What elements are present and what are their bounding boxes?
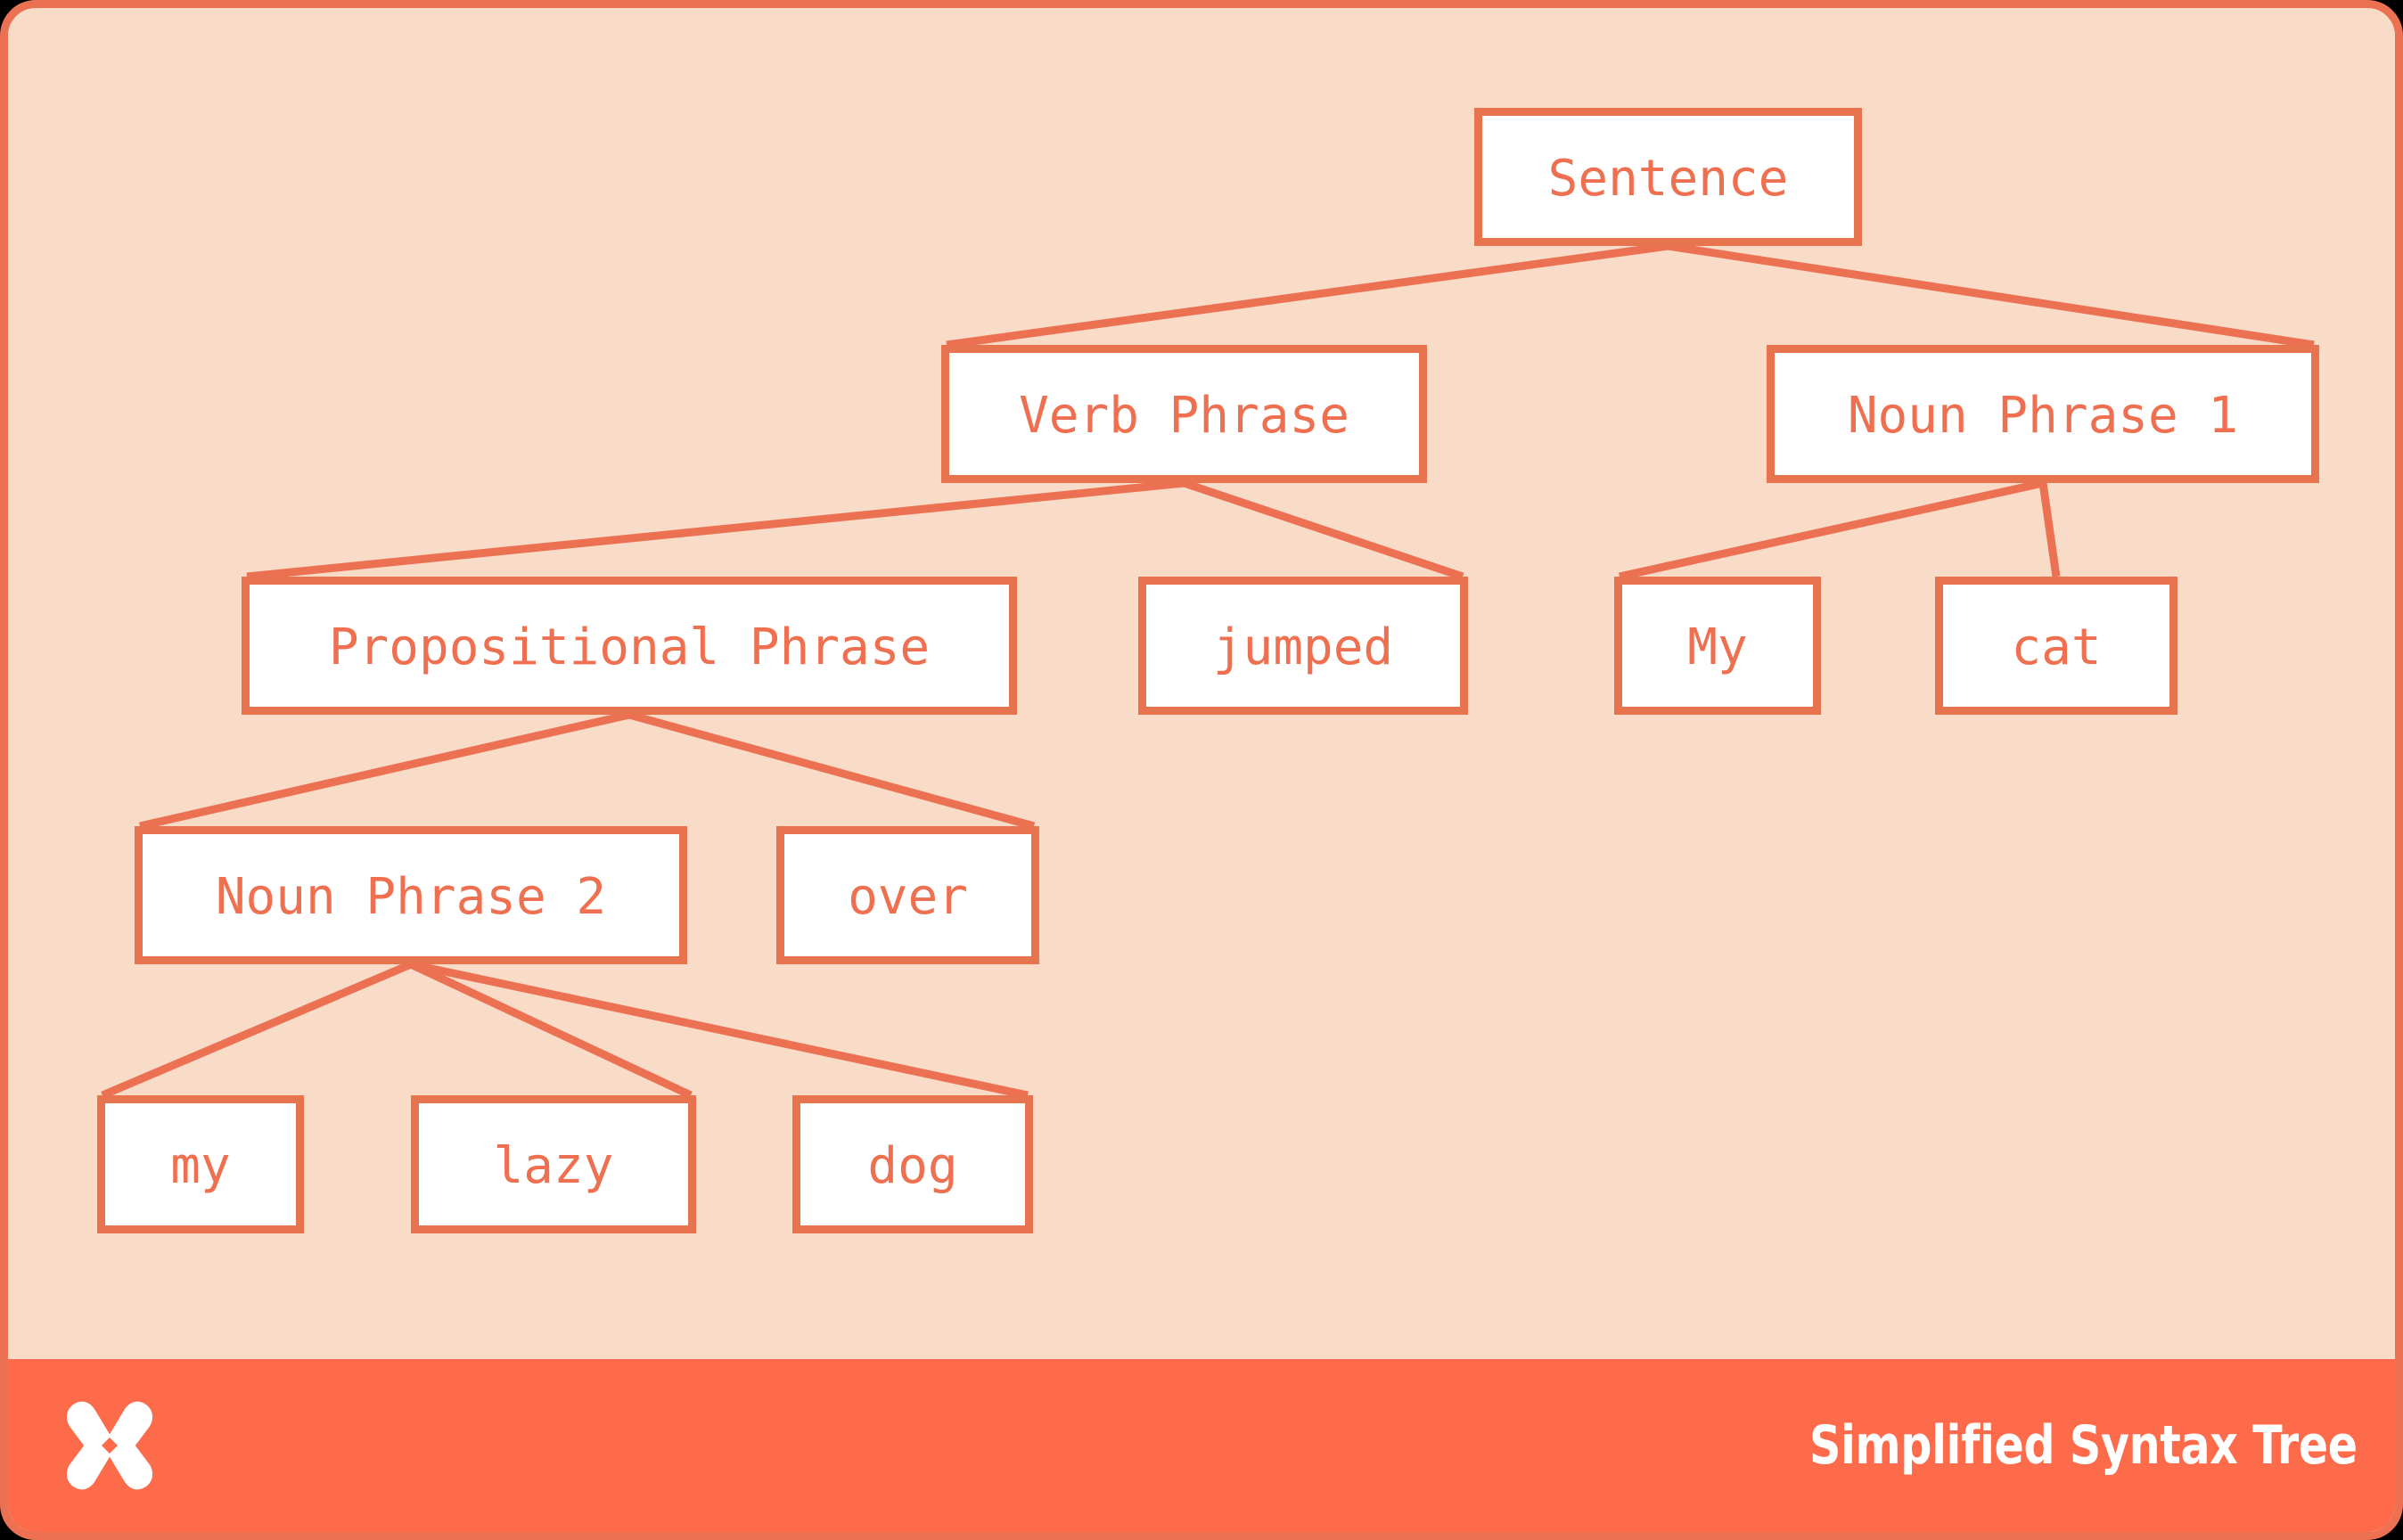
tree-edge-prop-phrase-to-noun-phrase-2 — [140, 715, 629, 826]
tree-node-lazy[interactable]: lazy — [415, 1100, 693, 1230]
node-label: cat — [2011, 618, 2101, 676]
tree-node-sentence[interactable]: Sentence — [1479, 112, 1858, 242]
tree-edge-sentence-to-noun-phrase-1 — [1669, 246, 2315, 345]
tree-edge-noun-phrase-1-to-cat — [2043, 483, 2056, 577]
tree-node-prop-phrase[interactable]: Propositional Phrase — [246, 581, 1013, 711]
node-label: jumped — [1213, 618, 1393, 676]
node-label: Noun Phrase 2 — [216, 868, 606, 926]
footer-bar: Simplified Syntax Tree — [8, 1359, 2403, 1532]
tree-node-over[interactable]: over — [781, 831, 1036, 961]
tree-edge-verb-phrase-to-jumped — [1185, 483, 1464, 577]
node-label: Noun Phrase 1 — [1848, 387, 2238, 445]
tree-edge-noun-phrase-2-to-dog — [411, 964, 1028, 1095]
node-label: lazy — [494, 1137, 614, 1195]
node-label: my — [170, 1137, 230, 1195]
tree-node-my-det[interactable]: My — [1619, 581, 1817, 711]
four-point-star-logo — [62, 1397, 158, 1494]
tree-node-verb-phrase[interactable]: Verb Phrase — [946, 349, 1423, 479]
tree-edge-verb-phrase-to-prop-phrase — [247, 483, 1185, 577]
tree-node-dog[interactable]: dog — [797, 1100, 1029, 1230]
diagram-card: SentenceVerb PhraseNoun Phrase 1Proposit… — [0, 0, 2403, 1540]
node-label: Verb Phrase — [1019, 387, 1349, 445]
node-label: Propositional Phrase — [329, 618, 930, 676]
tree-node-cat[interactable]: cat — [1940, 581, 2174, 711]
node-label: My — [1687, 618, 1747, 676]
tree-edge-sentence-to-verb-phrase — [947, 246, 1669, 345]
tree-edge-prop-phrase-to-over — [629, 715, 1034, 826]
node-label: over — [848, 868, 968, 926]
tree-edge-noun-phrase-1-to-my-det — [1620, 483, 2043, 577]
tree-edge-noun-phrase-2-to-my-leaf — [103, 964, 411, 1095]
node-label: dog — [867, 1137, 957, 1195]
tree-node-noun-phrase-2[interactable]: Noun Phrase 2 — [139, 831, 684, 961]
node-layer: SentenceVerb PhraseNoun Phrase 1Proposit… — [102, 112, 2316, 1230]
tree-node-jumped[interactable]: jumped — [1143, 581, 1464, 711]
tree-node-my-leaf[interactable]: my — [102, 1100, 300, 1230]
syntax-tree-canvas: SentenceVerb PhraseNoun Phrase 1Proposit… — [8, 8, 2403, 1367]
tree-edge-noun-phrase-2-to-lazy — [411, 964, 691, 1095]
node-label: Sentence — [1548, 150, 1789, 208]
footer-title: Simplified Syntax Tree — [1809, 1414, 2358, 1477]
tree-node-noun-phrase-1[interactable]: Noun Phrase 1 — [1771, 349, 2316, 479]
